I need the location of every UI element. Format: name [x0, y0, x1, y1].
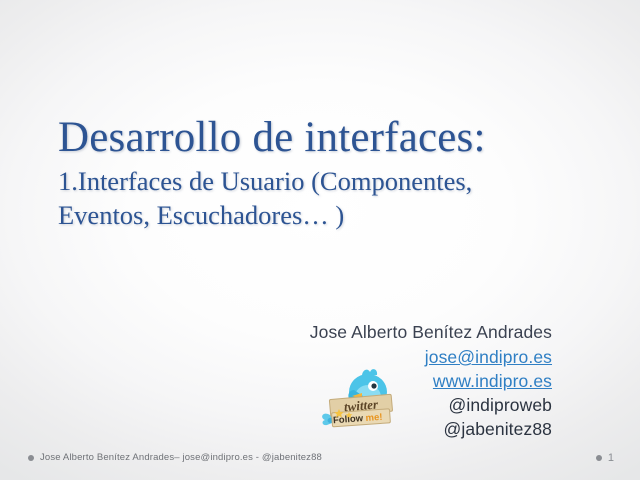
subtitle-line-1: 1.Interfaces de Usuario (Componentes, — [58, 164, 598, 198]
footer-text: Jose Alberto Benítez Andrades– jose@indi… — [40, 452, 322, 463]
footer-right-group: 1 — [596, 452, 614, 464]
bullet-dot-icon — [596, 455, 602, 461]
title-block: Desarrollo de interfaces: 1.Interfaces d… — [58, 112, 598, 232]
bullet-dot-icon — [28, 455, 34, 461]
presentation-slide: Desarrollo de interfaces: 1.Interfaces d… — [0, 0, 640, 480]
author-name: Jose Alberto Benítez Andrades — [132, 320, 552, 345]
svg-text:me!: me! — [365, 412, 383, 424]
footer-left-group: Jose Alberto Benítez Andrades– jose@indi… — [28, 452, 322, 463]
subtitle-line-2: Eventos, Escuchadores… ) — [58, 198, 598, 232]
page-number: 1 — [608, 452, 614, 464]
slide-footer: Jose Alberto Benítez Andrades– jose@indi… — [0, 446, 640, 480]
twitter-follow-me-badge[interactable]: twitter Follow me! — [318, 366, 404, 428]
page-title: Desarrollo de interfaces: — [58, 112, 598, 164]
